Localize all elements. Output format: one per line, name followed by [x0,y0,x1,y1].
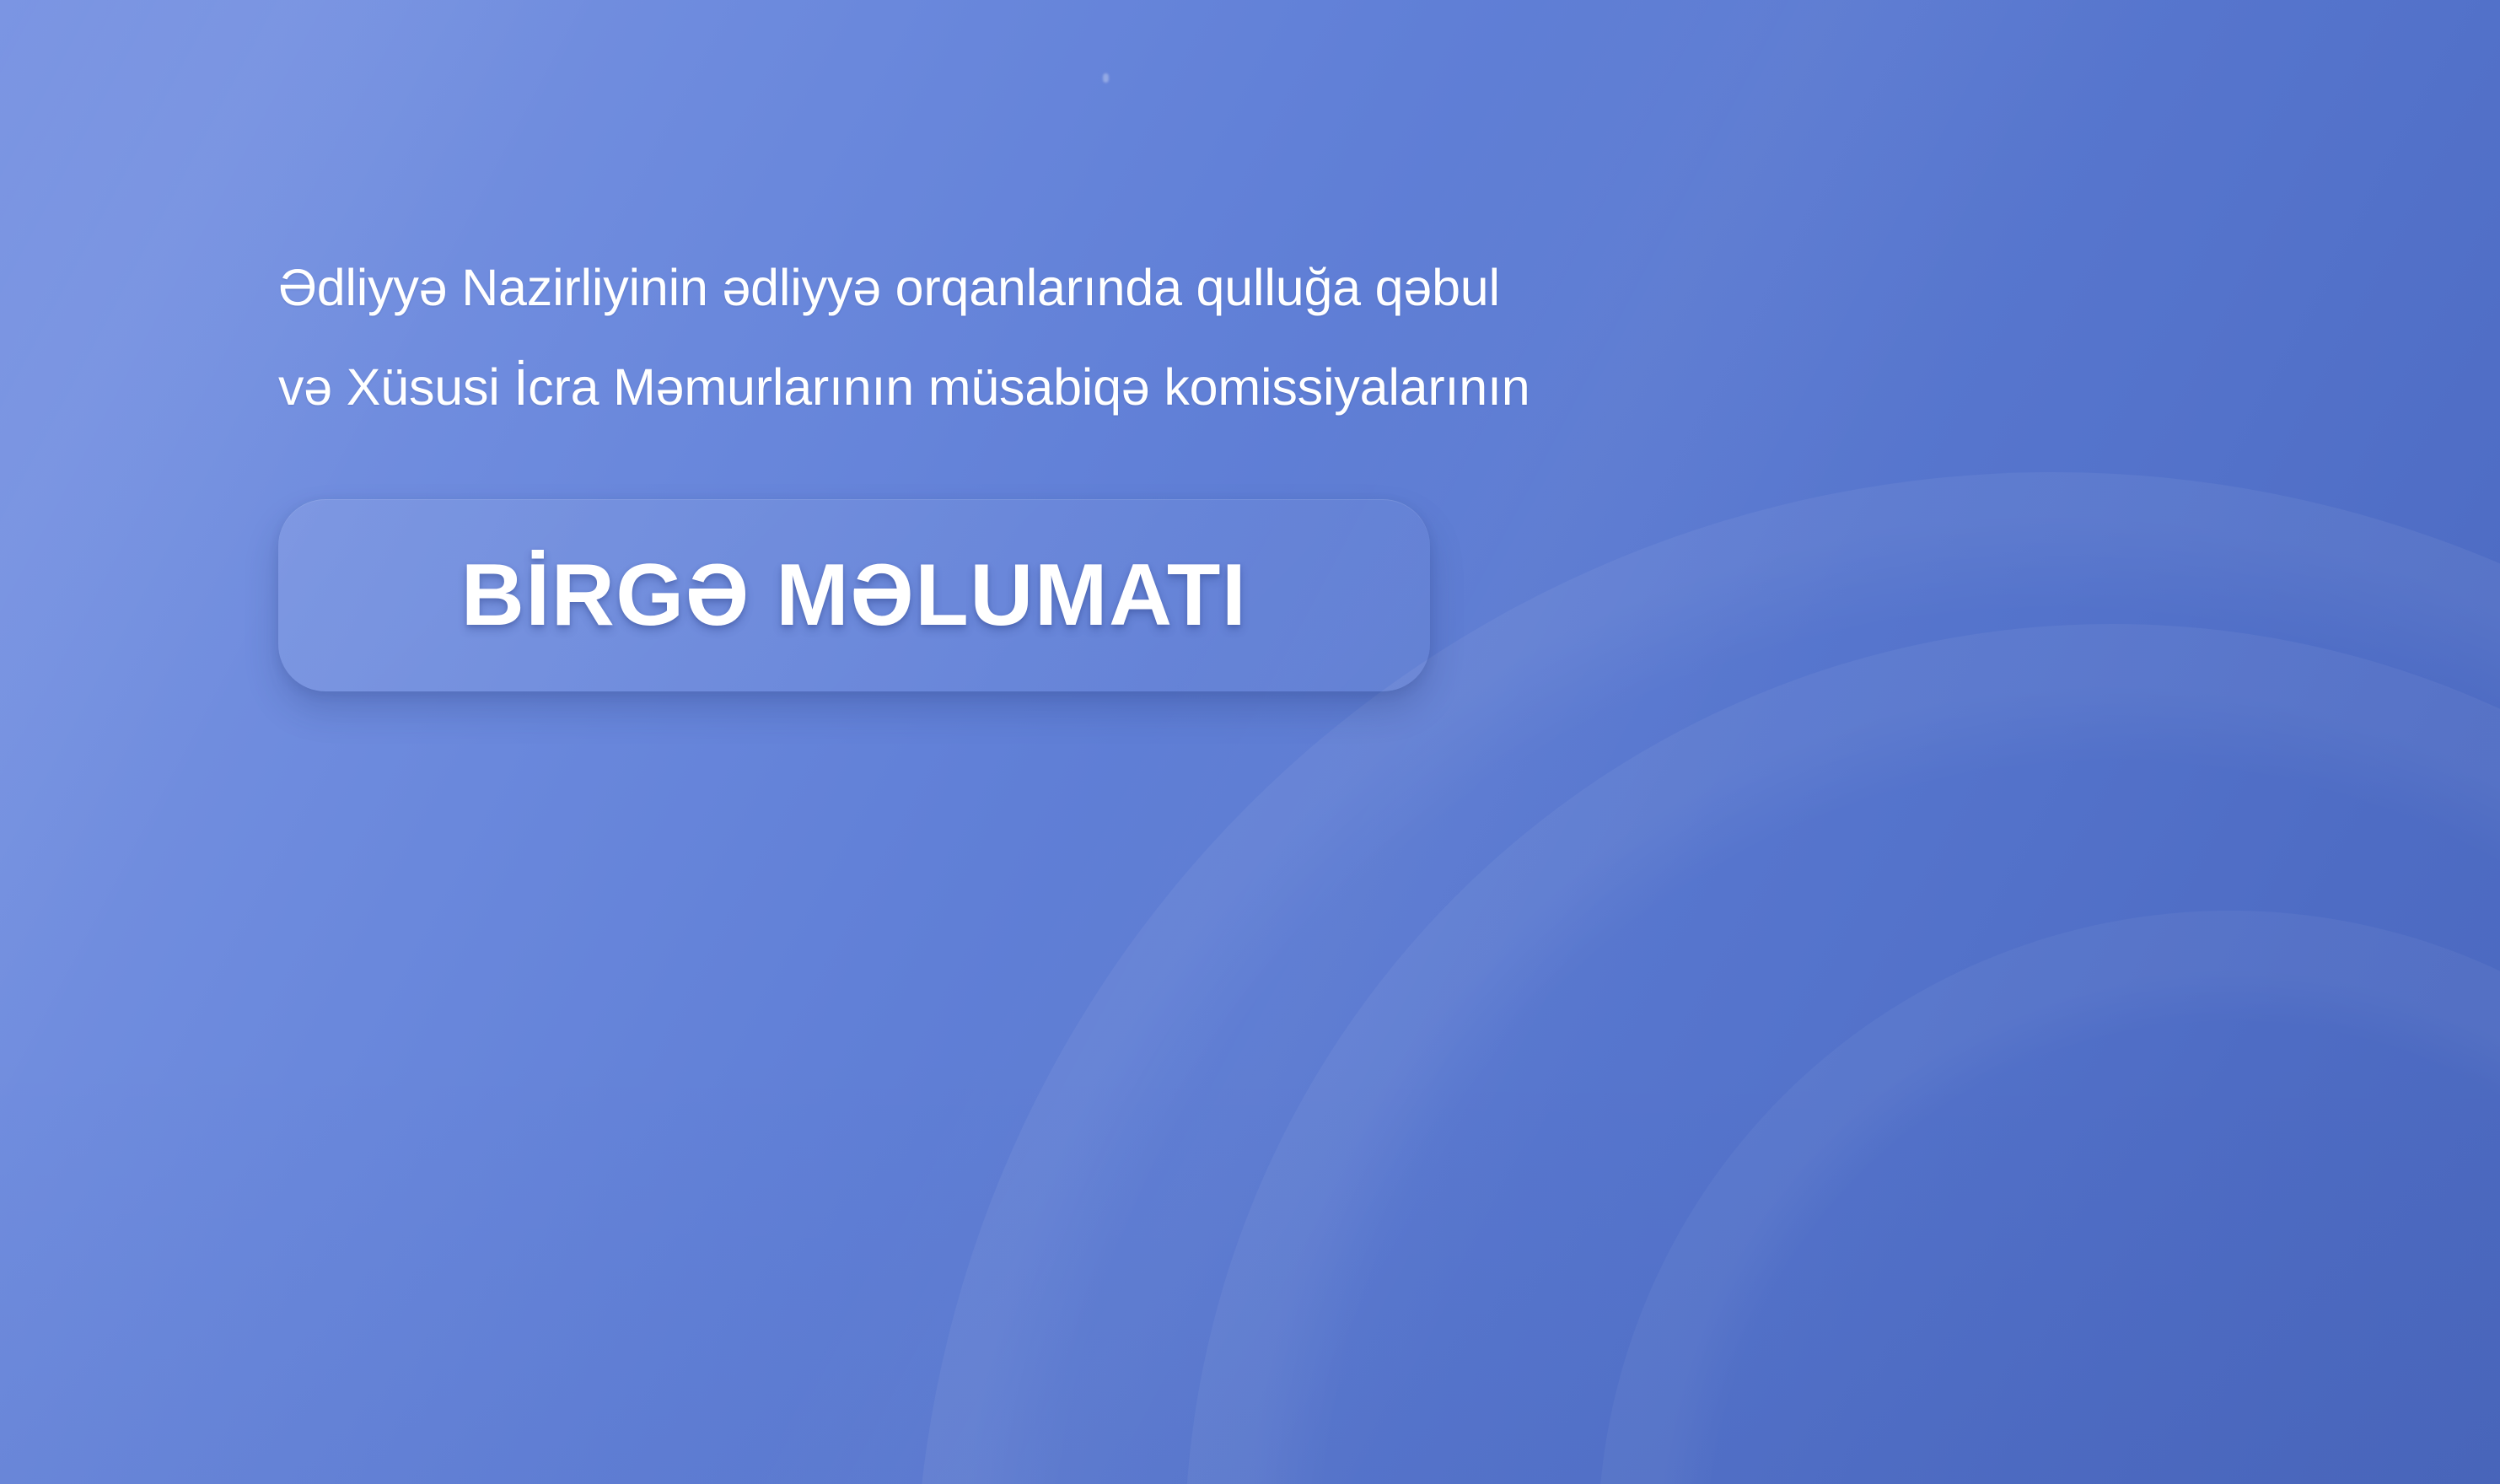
decorative-arc-inner [1598,911,2500,1484]
headline-title: BİRGƏ MƏLUMATI [461,546,1248,646]
headline-card: BİRGƏ MƏLUMATI [278,499,1430,691]
subtitle-line-2: və Xüsusi İcra Məmurlarının müsabiqə kom… [278,337,2049,437]
subtitle-line-1: Ədliyyə Nazirliyinin ədliyyə orqanlarınd… [278,238,2049,337]
decorative-diagonal-sheen [0,0,2500,1484]
subtitle-block: Ədliyyə Nazirliyinin ədliyyə orqanlarınd… [278,238,2049,437]
slide-canvas: Ədliyyə Nazirliyinin ədliyyə orqanlarınd… [0,0,2500,1484]
decorative-arc-middle [1185,624,2500,1484]
artifact-speck [1103,73,1109,83]
decorative-vignette [0,0,2500,1484]
